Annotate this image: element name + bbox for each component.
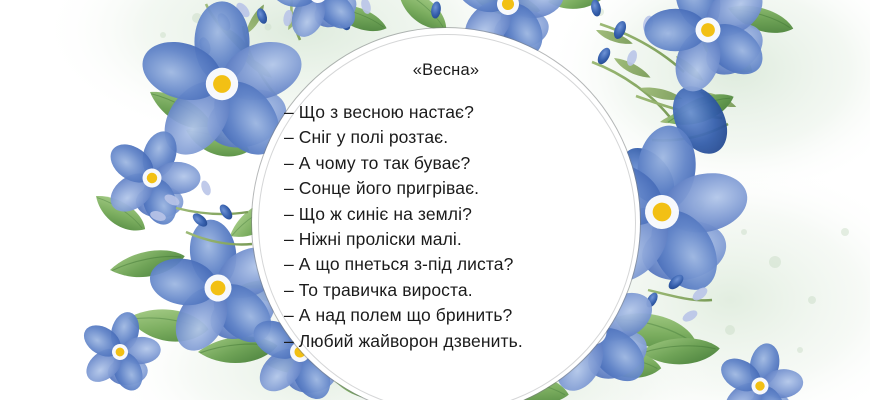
poem-title: «Весна» [252, 61, 640, 80]
poem-line: – Що ж синіє на землі? [284, 202, 624, 227]
poem-line: – То травичка вироста. [284, 278, 624, 303]
poem-line: – Сніг у полі розтає. [284, 125, 624, 150]
poem-line: – А над полем що бринить? [284, 303, 624, 328]
forget-me-not-flower [88, 116, 215, 240]
poem-container: «Весна» – Що з весною настає? – Сніг у п… [252, 28, 640, 400]
poem-line: – Любий жайворон дзвенить. [284, 329, 624, 354]
poem-lines: – Що з весною настає? – Сніг у полі розт… [284, 100, 624, 354]
poem-line: – А чому то так буває? [284, 151, 624, 176]
poem-line: – Сонце його пригріває. [284, 176, 624, 201]
slide-canvas: «Весна» – Що з весною настає? – Сніг у п… [0, 0, 870, 400]
poem-line: – Ніжні проліски малі. [284, 227, 624, 252]
forget-me-not-flower [624, 0, 791, 112]
poem-line: – А що пнеться з-під листа? [284, 252, 624, 277]
forget-me-not-flower [706, 334, 813, 400]
forget-me-not-flower [68, 302, 171, 400]
poem-line: – Що з весною настає? [284, 100, 624, 125]
